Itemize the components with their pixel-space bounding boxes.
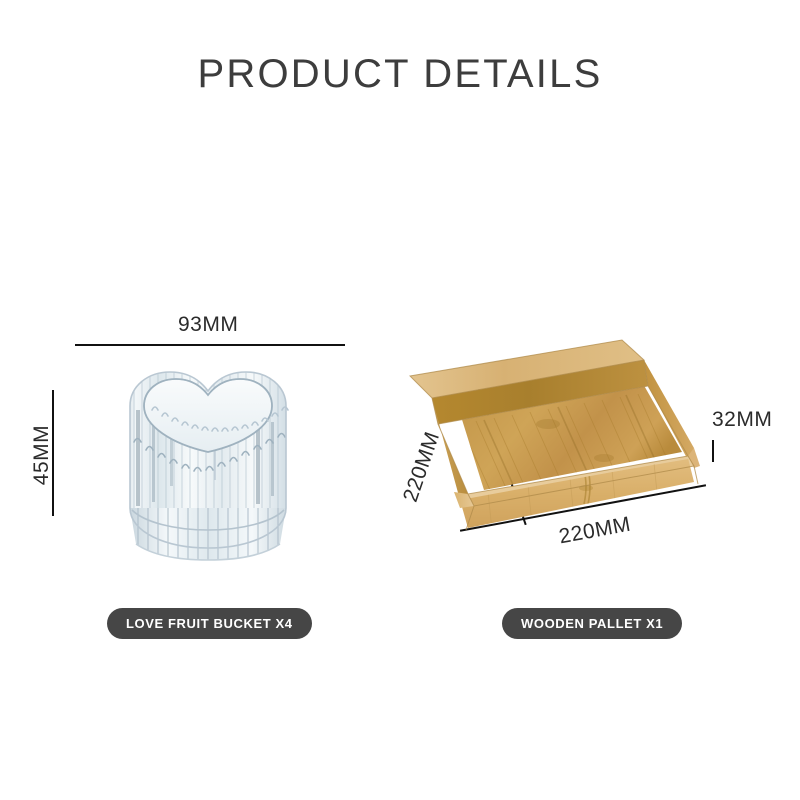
- bamboo-square-tray-icon: [398, 332, 710, 540]
- heart-glass-bowl-icon: [66, 358, 350, 570]
- bowl-width-label: 93MM: [178, 313, 238, 337]
- page-title: PRODUCT DETAILS: [0, 52, 800, 97]
- wooden-pallet-image: [398, 332, 710, 540]
- tray-height-rule: [712, 440, 714, 462]
- bowl-height-rule: [52, 390, 54, 516]
- bowl-foot: [126, 506, 294, 564]
- wooden-pallet-caption: WOODEN PALLET X1: [502, 608, 682, 639]
- tray-height-label: 32MM: [712, 408, 772, 432]
- love-fruit-bucket-image: [66, 358, 350, 570]
- love-fruit-bucket-caption: LOVE FRUIT BUCKET X4: [107, 608, 312, 639]
- bowl-height-label: 45MM: [30, 410, 54, 500]
- bowl-width-rule: [75, 344, 345, 346]
